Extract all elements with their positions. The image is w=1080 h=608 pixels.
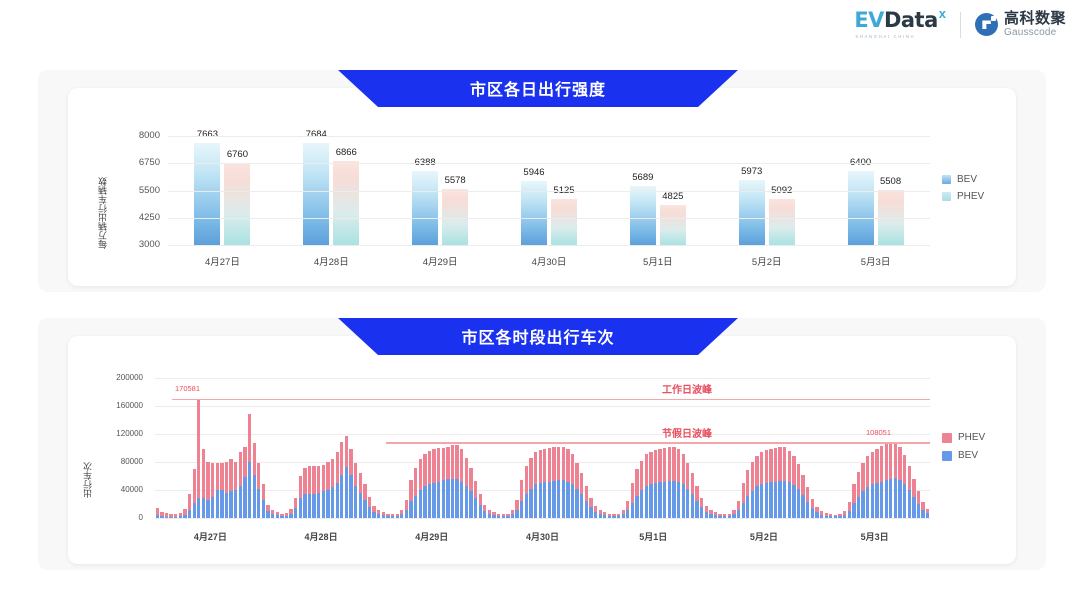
- chart2-bar-segment-phev: [354, 463, 357, 486]
- chart2-bar-segment-bev: [871, 484, 874, 518]
- chart2-bar-segment-phev: [783, 447, 786, 481]
- chart2-bar-segment-phev: [686, 463, 689, 489]
- chart2-bar-segment-bev: [635, 496, 638, 518]
- chart2-stacked-bar: [193, 469, 196, 518]
- chart2-stacked-bar: [234, 462, 237, 518]
- chart2-y-tick-label: 160000: [103, 401, 143, 410]
- chart2-bar-segment-bev: [580, 494, 583, 518]
- chart2-bar-segment-bev: [599, 514, 602, 518]
- chart2-stacked-bar: [640, 461, 643, 518]
- chart2-bar-segment-phev: [257, 463, 260, 488]
- chart2-stacked-bar: [248, 414, 251, 518]
- chart2-bar-segment-bev: [248, 462, 251, 518]
- chart2-stacked-bar: [488, 510, 491, 518]
- chart2-bar-segment-bev: [875, 483, 878, 518]
- chart2-bar-segment-phev: [359, 473, 362, 493]
- chart2-stacked-bar: [728, 514, 731, 518]
- chart2-stacked-bar: [308, 466, 311, 518]
- chart2-x-tick-label: 4月28日: [281, 530, 361, 543]
- chart2-bar-segment-phev: [880, 446, 883, 482]
- chart2-bar-segment-bev: [289, 514, 292, 518]
- chart2-bar-segment-phev: [788, 451, 791, 483]
- chart2-stacked-bar: [451, 445, 454, 518]
- chart2-legend-swatch-icon: [942, 433, 952, 443]
- chart2-legend-item-phev[interactable]: PHEV: [942, 432, 985, 443]
- banner-daily-intensity-title: 市区各日出行强度: [470, 76, 606, 100]
- chart2-bar-segment-bev: [672, 481, 675, 518]
- chart2-stacked-bar: [875, 449, 878, 518]
- chart2-bar-segment-bev: [386, 516, 389, 518]
- chart2-bar-segment-bev: [557, 480, 560, 518]
- chart2-bar-segment-phev: [631, 483, 634, 503]
- chart2-bar-segment-phev: [691, 473, 694, 494]
- chart2-stacked-bar: [797, 464, 800, 518]
- chart2-stacked-bar: [423, 454, 426, 518]
- banner-hourly-trips-title: 市区各时段出行车次: [461, 324, 614, 348]
- chart2-bar-segment-phev: [797, 464, 800, 489]
- chart2-stacked-bar: [197, 400, 200, 518]
- chart2-bar-segment-phev: [871, 452, 874, 485]
- chart2-bar-segment-phev: [202, 449, 205, 498]
- chart2-bar-segment-phev: [649, 452, 652, 484]
- chart2-bar-segment-phev: [525, 466, 528, 494]
- chart2-bar-segment-bev: [751, 491, 754, 518]
- chart2-bar-segment-bev: [894, 478, 897, 518]
- chart2-stacked-bar: [428, 451, 431, 518]
- chart2-bar-segment-bev: [612, 516, 615, 518]
- chart2-bar-segment-bev: [229, 491, 232, 518]
- chart2-bar-segment-bev: [797, 489, 800, 518]
- chart2-bar-segment-phev: [640, 461, 643, 490]
- chart2-annotation-line-weekday-peak: [172, 399, 930, 401]
- chart2-bar-segment-bev: [193, 503, 196, 518]
- chart2-bar-segment-bev: [156, 515, 159, 518]
- chart2-bar-segment-phev: [262, 484, 265, 499]
- chart2-bar-segment-phev: [921, 502, 924, 510]
- chart2-bar-segment-bev: [326, 490, 329, 518]
- chart2-bar-segment-bev: [834, 516, 837, 518]
- chart2-bar-segment-bev: [926, 513, 929, 518]
- chart2-stacked-bar: [174, 514, 177, 518]
- chart2-bar-segment-bev: [654, 483, 657, 518]
- chart2-stacked-bar: [474, 481, 477, 518]
- chart2-bar-segment-bev: [543, 482, 546, 518]
- chart2-bar-segment-phev: [903, 455, 906, 484]
- chart2-stacked-bar: [801, 475, 804, 518]
- chart2-stacked-bar: [414, 468, 417, 518]
- chart2-legend: PHEVBEV: [942, 432, 985, 461]
- chart2-annotation-label-holiday-peak: 节假日波峰: [662, 425, 712, 440]
- chart2-bar-segment-bev: [760, 484, 763, 518]
- chart2-stacked-bar: [511, 510, 514, 518]
- chart2-bar-segment-phev: [912, 479, 915, 497]
- chart2-stacked-bar: [340, 442, 343, 518]
- chart2-stacked-bar: [469, 468, 472, 518]
- chart2-bar-segment-bev: [700, 507, 703, 518]
- chart2-bar-segment-phev: [908, 466, 911, 491]
- chart2-bar-segment-bev: [262, 500, 265, 518]
- chart2-y-tick-label: 80000: [103, 457, 143, 466]
- chart2-stacked-bar: [303, 468, 306, 518]
- chart2-bar-segment-bev: [778, 481, 781, 518]
- chart2-stacked-bar: [603, 512, 606, 518]
- chart2-bar-segment-bev: [515, 510, 518, 518]
- chart2-bar-segment-phev: [548, 448, 551, 482]
- chart2-stacked-bar: [502, 514, 505, 518]
- chart2-stacked-bar: [737, 501, 740, 518]
- chart2-stacked-bar: [280, 514, 283, 518]
- chart2-bar-segment-bev: [414, 496, 417, 518]
- banner-daily-intensity: 市区各日出行强度: [338, 70, 738, 107]
- chart2-bar-segment-bev: [511, 514, 514, 518]
- chart2-bar-segment-bev: [686, 489, 689, 518]
- chart2-stacked-bar: [742, 483, 745, 518]
- chart2-bar-segment-bev: [626, 510, 629, 518]
- dashboard-page: EVData x SHANGHAI CHINA 高科数聚 Gausscode 市…: [0, 0, 1080, 608]
- chart2-bar-segment-bev: [211, 497, 214, 518]
- chart2-bar-segment-bev: [861, 491, 864, 518]
- chart2-bar-segment-phev: [368, 497, 371, 507]
- chart2-bar-segment-phev: [885, 444, 888, 480]
- chart2-stacked-bar: [539, 450, 542, 518]
- chart2-stacked-bar: [645, 454, 648, 518]
- chart2-stacked-bar: [349, 449, 352, 518]
- chart2-legend-item-bev[interactable]: BEV: [942, 450, 985, 461]
- chart2-y-tick-label: 0: [103, 513, 143, 522]
- chart2-bar-segment-phev: [331, 459, 334, 487]
- chart2-stacked-bar: [345, 436, 348, 518]
- chart2-bar-segment-bev: [405, 510, 408, 518]
- chart2-bar-segment-phev: [349, 449, 352, 474]
- chart2-bar-segment-bev: [469, 491, 472, 518]
- chart2-bar-segment-phev: [848, 502, 851, 510]
- chart2-bar-segment-phev: [792, 456, 795, 485]
- chart2-bar-segment-bev: [483, 511, 486, 518]
- chart2-bar-segment-phev: [303, 468, 306, 495]
- chart2-bar-segment-phev: [299, 476, 302, 498]
- chart2-bar-segment-phev: [322, 465, 325, 492]
- chart2-stacked-bar: [811, 499, 814, 518]
- chart2-bar-segment-phev: [562, 447, 565, 481]
- chart2-stacked-bar: [497, 514, 500, 518]
- chart2-stacked-bar: [658, 449, 661, 518]
- chart2-bar-segment-bev: [446, 479, 449, 518]
- chart2-bar-segment-bev: [617, 516, 620, 518]
- chart2-bar-segment-phev: [409, 480, 412, 501]
- chart2-bar-segment-bev: [243, 477, 246, 518]
- chart2-stacked-bar: [179, 513, 182, 518]
- chart2-bar-segment-phev: [442, 448, 445, 480]
- chart2-bar-segment-bev: [548, 482, 551, 518]
- chart2-stacked-bar: [216, 463, 219, 518]
- chart2-stacked-bar: [654, 450, 657, 518]
- chart2-bar-segment-bev: [792, 485, 795, 518]
- chart2-bar-segment-phev: [234, 462, 237, 490]
- chart2-bar-segment-bev: [257, 489, 260, 518]
- chart2-stacked-bar: [257, 463, 260, 518]
- chart2-bar-segment-phev: [469, 468, 472, 491]
- chart2-stacked-bar: [732, 510, 735, 518]
- chart2-stacked-bar: [289, 509, 292, 518]
- chart2-stacked-bar: [160, 512, 163, 518]
- chart2-stacked-bar: [363, 484, 366, 518]
- chart2-bar-segment-bev: [520, 501, 523, 519]
- chart2-stacked-bar: [617, 514, 620, 518]
- chart2-bar-segment-phev: [193, 469, 196, 503]
- chart2-bar-segment-phev: [243, 447, 246, 478]
- chart2-stacked-bar: [880, 446, 883, 518]
- chart2-bar-segment-bev: [566, 482, 569, 518]
- chart2-stacked-bar: [322, 465, 325, 518]
- chart2-stacked-bar: [529, 458, 532, 518]
- chart2-bar-segment-bev: [216, 490, 219, 518]
- chart2-bar-segment-phev: [755, 456, 758, 487]
- chart2-bar-segment-phev: [778, 447, 781, 481]
- chart2-bar-segment-phev: [432, 449, 435, 483]
- chart2-bar-segment-phev: [197, 400, 200, 498]
- chart2-annotation-line-holiday-peak: [386, 442, 930, 444]
- chart2-stacked-bar: [506, 514, 509, 518]
- chart2-bar-segment-bev: [658, 482, 661, 518]
- chart2-bar-segment-bev: [317, 493, 320, 518]
- chart2-bar-segment-bev: [728, 516, 731, 518]
- chart2-bar-segment-bev: [442, 480, 445, 518]
- chart2-stacked-bar: [714, 512, 717, 518]
- chart2-bar-segment-bev: [917, 504, 920, 518]
- chart2-bar-segment-phev: [529, 458, 532, 489]
- chart2-stacked-bar: [820, 511, 823, 518]
- chart2-stacked-bar: [589, 498, 592, 518]
- chart2-bar-segment-bev: [234, 490, 237, 518]
- chart2-bar-segment-bev: [742, 503, 745, 518]
- chart2-stacked-bar: [755, 456, 758, 518]
- chart2-stacked-bar: [169, 514, 172, 518]
- chart2-bar-segment-bev: [575, 489, 578, 518]
- chart2-bar-segment-phev: [414, 468, 417, 496]
- chart2-stacked-bar: [649, 452, 652, 519]
- chart2-stacked-bar: [778, 447, 781, 518]
- chart2-bar-segment-bev: [820, 515, 823, 519]
- chart2-bar-segment-phev: [806, 487, 809, 502]
- chart2-stacked-bar: [695, 486, 698, 518]
- chart2-bar-segment-bev: [765, 483, 768, 518]
- chart2-stacked-bar: [262, 484, 265, 518]
- chart2-bar-segment-bev: [239, 486, 242, 518]
- chart2-bar-segment-phev: [742, 483, 745, 503]
- chart2-stacked-bar: [534, 452, 537, 518]
- chart2-stacked-bar: [336, 452, 339, 518]
- chart2-bar-segment-phev: [580, 473, 583, 494]
- chart2-bar-segment-bev: [409, 501, 412, 518]
- chart2-stacked-bar: [885, 444, 888, 518]
- chart2-stacked-bar: [912, 479, 915, 518]
- chart2-stacked-bar: [437, 448, 440, 518]
- chart2-y-tick-label: 200000: [103, 373, 143, 382]
- chart2-bar-segment-phev: [423, 454, 426, 486]
- chart2-bar-segment-phev: [672, 447, 675, 481]
- chart2-bar-segment-phev: [345, 436, 348, 467]
- chart2-bar-segment-bev: [303, 494, 306, 518]
- chart2-bar-segment-phev: [239, 452, 242, 486]
- chart2-stacked-bar: [663, 448, 666, 518]
- chart2-x-tick-label: 4月27日: [170, 530, 250, 543]
- chart2-bar-segment-bev: [169, 517, 172, 518]
- chart2-bar-segment-phev: [645, 454, 648, 486]
- chart2-bar-segment-phev: [206, 462, 209, 500]
- chart2-stacked-bar: [705, 506, 708, 518]
- chart2-stacked-bar: [460, 449, 463, 518]
- chart2-bar-segment-phev: [774, 448, 777, 482]
- chart2-bar-segment-bev: [801, 495, 804, 518]
- chart2-bar-segment-phev: [658, 449, 661, 483]
- chart2-bar-segment-bev: [811, 508, 814, 518]
- chart2-stacked-bar: [391, 514, 394, 518]
- chart2-bar-segment-bev: [866, 487, 869, 518]
- chart2-bar-segment-bev: [253, 475, 256, 518]
- chart2-stacked-bar: [432, 449, 435, 518]
- chart2-bar-segment-bev: [188, 510, 191, 518]
- chart2-stacked-bar: [926, 509, 929, 518]
- chart2-bar-segment-bev: [359, 493, 362, 518]
- chart2-bar-segment-bev: [829, 516, 832, 518]
- chart2-bar-segment-bev: [479, 505, 482, 518]
- chart2-stacked-bar: [751, 462, 754, 518]
- chart2-bar-segment-phev: [428, 451, 431, 485]
- chart2-stacked-bar: [271, 510, 274, 518]
- chart2-bar-segment-phev: [635, 469, 638, 496]
- chart2-bar-segment-phev: [515, 500, 518, 510]
- chart2-bar-segment-bev: [363, 500, 366, 518]
- chart2-stacked-bar: [852, 484, 855, 518]
- chart2-bar-segment-phev: [156, 508, 159, 515]
- chart2-stacked-bar: [220, 463, 223, 518]
- chart2-stacked-bar: [769, 449, 772, 518]
- chart2-bar-segment-bev: [497, 516, 500, 518]
- chart2-bar-segment-bev: [663, 482, 666, 518]
- chart2-bar-segment-phev: [363, 484, 366, 499]
- chart2-bar-segment-bev: [266, 511, 269, 518]
- chart2-stacked-bar: [691, 473, 694, 518]
- chart2-bar-segment-bev: [340, 475, 343, 518]
- chart2-bar-segment-phev: [663, 448, 666, 482]
- chart2-bar-segment-phev: [455, 445, 458, 479]
- chart2-bar-segment-bev: [206, 500, 209, 518]
- chart2-stacked-bar: [838, 514, 841, 518]
- chart2-stacked-bar: [400, 510, 403, 518]
- chart2-stacked-bar: [465, 458, 468, 518]
- chart2-stacked-bar: [543, 449, 546, 518]
- chart2-y-tick-label: 120000: [103, 429, 143, 438]
- chart2-bar-segment-bev: [608, 516, 611, 518]
- chart2-stacked-bar: [908, 466, 911, 519]
- chart2-bar-segment-phev: [811, 499, 814, 508]
- chart2-bar-segment-bev: [718, 516, 721, 518]
- chart2-bar-segment-phev: [437, 448, 440, 482]
- chart2-bar-segment-bev: [668, 481, 671, 518]
- chart2-bar-segment-bev: [539, 483, 542, 518]
- chart2-stacked-bar: [903, 455, 906, 518]
- chart2-stacked-bar: [635, 469, 638, 518]
- chart2-bar-segment-phev: [654, 450, 657, 483]
- chart2-bar-segment-phev: [340, 442, 343, 474]
- chart2-bar-segment-phev: [585, 486, 588, 501]
- chart2-bar-segment-bev: [898, 480, 901, 518]
- chart2-stacked-bar: [626, 501, 629, 518]
- chart2-bar-segment-bev: [349, 475, 352, 518]
- chart2-stacked-bar: [686, 463, 689, 518]
- chart2-bar-segment-bev: [912, 497, 915, 518]
- chart2-stacked-bar: [183, 509, 186, 518]
- chart2-stacked-bar: [266, 505, 269, 518]
- chart2-bar-segment-bev: [677, 482, 680, 518]
- chart2-bar-segment-bev: [322, 491, 325, 518]
- chart2-stacked-bar: [492, 512, 495, 518]
- chart2-bar-segment-phev: [405, 500, 408, 510]
- chart2-bar-segment-phev: [312, 466, 315, 494]
- chart2-stacked-bar: [765, 450, 768, 518]
- chart2-bar-segment-bev: [880, 482, 883, 518]
- chart2-stacked-bar: [331, 459, 334, 518]
- chart2-bar-segment-phev: [211, 463, 214, 497]
- chart2-bar-segment-phev: [248, 414, 251, 462]
- chart2-legend-swatch-icon: [942, 451, 952, 461]
- chart2-stacked-bar: [898, 447, 901, 518]
- chart2-stacked-bar: [377, 510, 380, 518]
- chart2-bar-segment-bev: [825, 516, 828, 518]
- chart2-stacked-bar: [594, 506, 597, 518]
- chart2-bar-segment-phev: [543, 449, 546, 483]
- chart2-bar-segment-bev: [852, 503, 855, 518]
- chart2-bar-segment-phev: [866, 456, 869, 488]
- chart2-bar-segment-bev: [691, 494, 694, 518]
- chart2-gridline: [155, 406, 930, 407]
- chart2-bar-segment-bev: [806, 502, 809, 518]
- chart2-bar-segment-phev: [575, 463, 578, 489]
- chart2-bar-segment-phev: [852, 484, 855, 503]
- chart2-bar-segment-bev: [225, 493, 228, 518]
- chart2-bar-segment-phev: [220, 463, 223, 490]
- chart2-bar-segment-bev: [709, 514, 712, 518]
- chart2-bar-segment-phev: [294, 498, 297, 508]
- chart2-bar-segment-phev: [682, 454, 685, 484]
- chart2-stacked-bar: [857, 472, 860, 518]
- chart2-x-tick-label: 5月1日: [613, 530, 693, 543]
- chart2-y-tick-label: 40000: [103, 485, 143, 494]
- chart2-bar-segment-bev: [294, 508, 297, 518]
- chart2-bar-segment-phev: [677, 449, 680, 481]
- chart2-stacked-bar: [409, 480, 412, 518]
- chart2-stacked-bar: [921, 502, 924, 518]
- chart2-bar-segment-phev: [520, 480, 523, 501]
- chart2-bar-segment-bev: [755, 486, 758, 518]
- chart2-stacked-bar: [165, 513, 168, 518]
- chart2-stacked-bar: [894, 442, 897, 518]
- chart2-bar-segment-bev: [525, 494, 528, 518]
- chart2-stacked-bar: [825, 513, 828, 518]
- chart2-x-tick-label: 5月3日: [835, 530, 915, 543]
- chart2-stacked-bar: [479, 494, 482, 518]
- chart2-bar-segment-bev: [622, 514, 625, 518]
- chart2-bar-segment-phev: [769, 449, 772, 483]
- chart2-stacked-bar: [848, 502, 851, 518]
- chart2-bar-segment-phev: [229, 459, 232, 491]
- chart2-bar-segment-bev: [562, 480, 565, 518]
- chart2-stacked-bar: [188, 494, 191, 518]
- chart2-x-tick-label: 4月30日: [503, 530, 583, 543]
- chart2-bar-segment-bev: [594, 512, 597, 518]
- chart2-bar-segment-bev: [857, 497, 860, 518]
- chart2-bar-segment-phev: [539, 450, 542, 483]
